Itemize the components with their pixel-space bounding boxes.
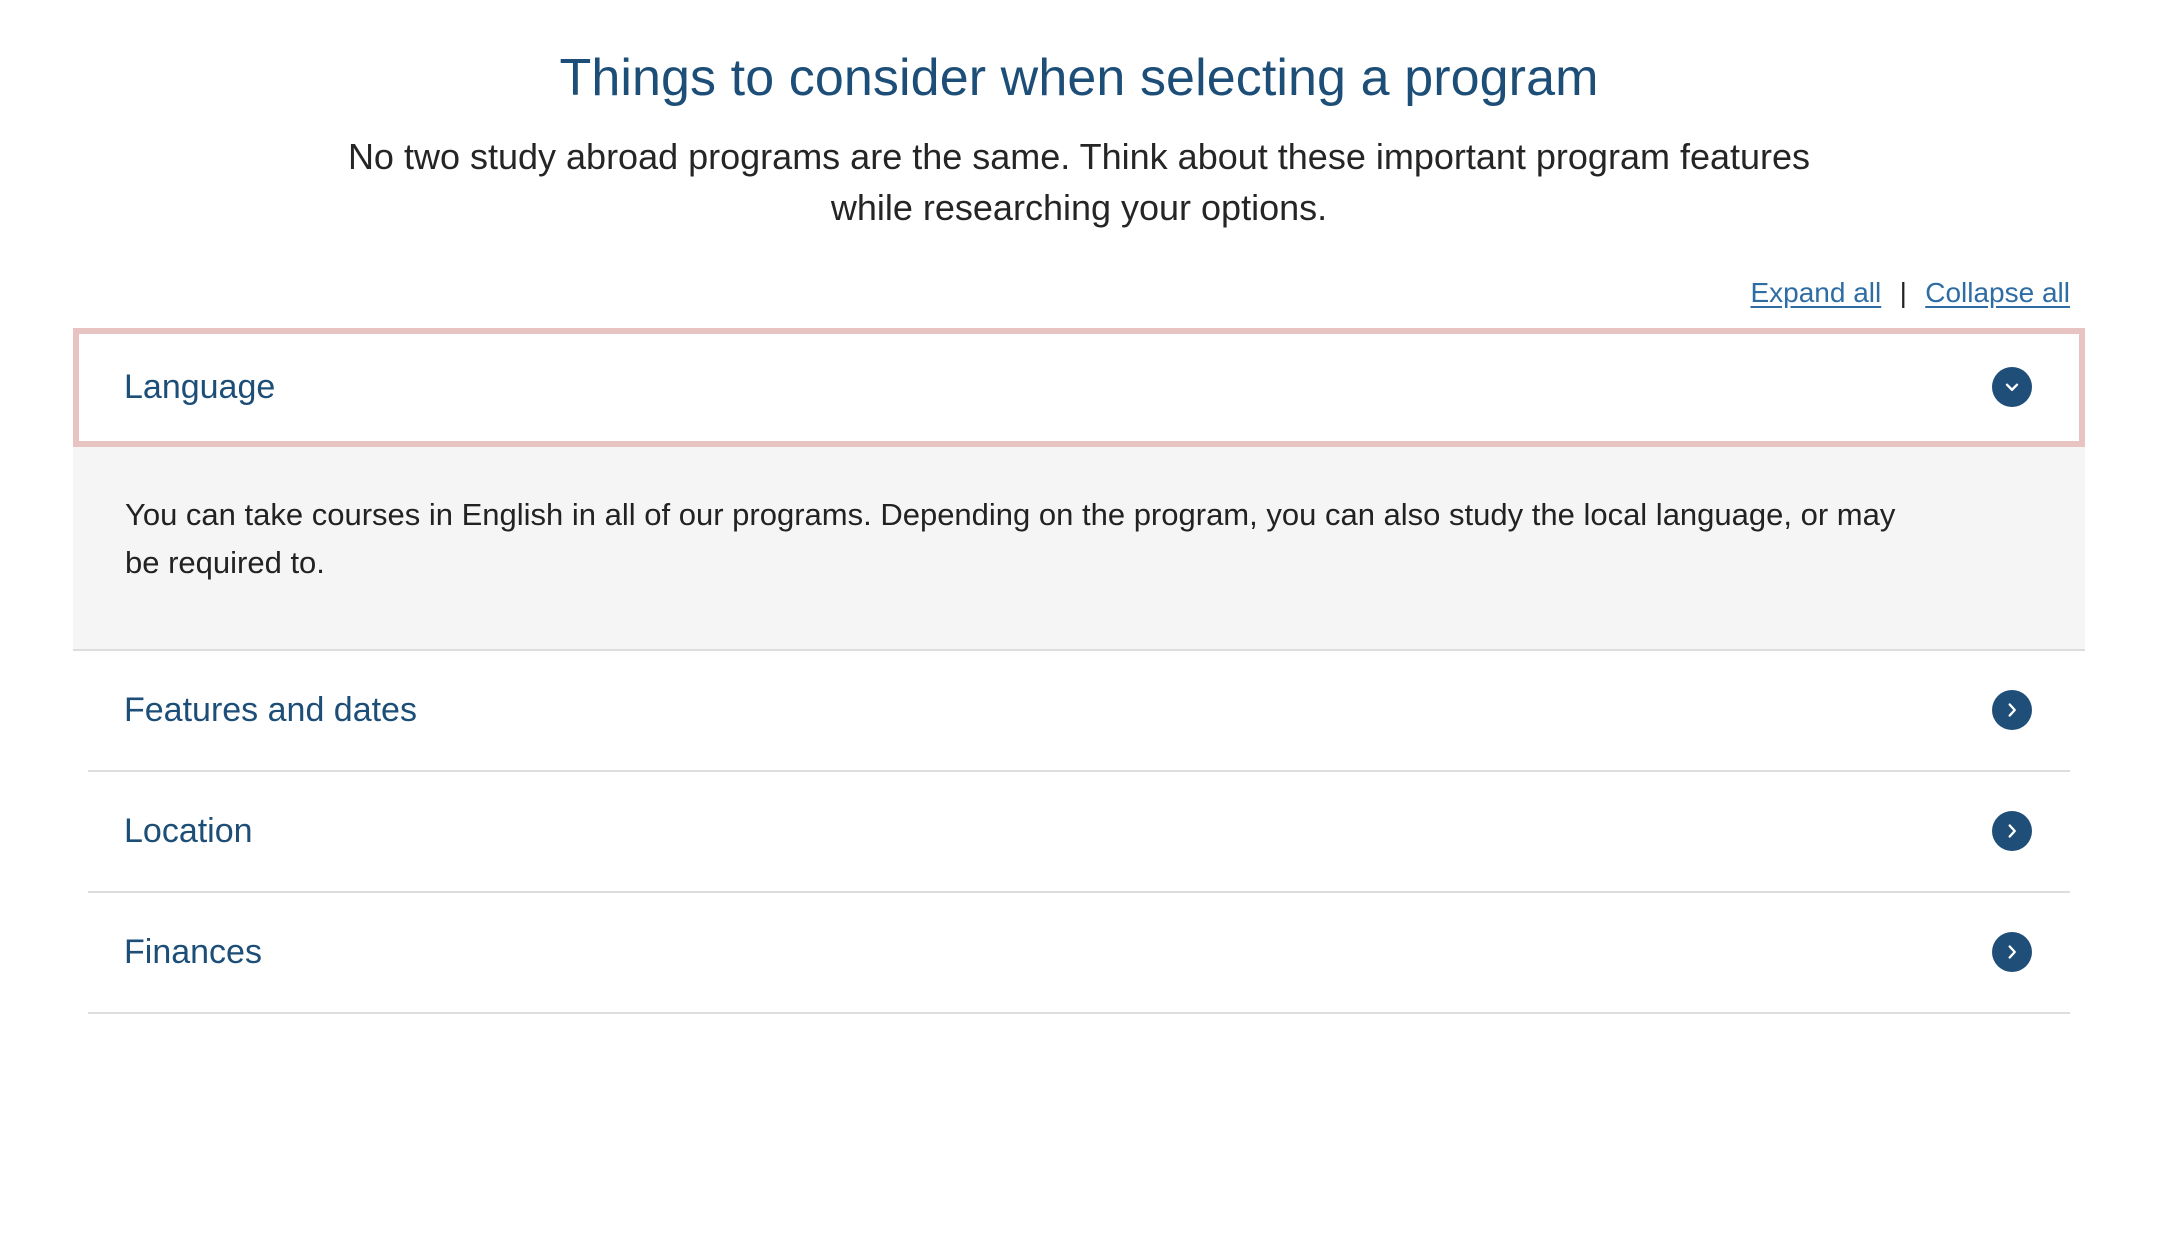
page-subtitle: No two study abroad programs are the sam… (329, 131, 1829, 233)
expand-all-link[interactable]: Expand all (1750, 276, 1881, 310)
program-selection-page: Things to consider when selecting a prog… (0, 0, 2158, 1246)
accordion-item-location: Location (73, 772, 2085, 893)
accordion-title-features-and-dates: Features and dates (124, 690, 417, 731)
chevron-right-icon[interactable] (1992, 932, 2032, 972)
accordion-divider (88, 1012, 2070, 1014)
accordion-item-features-and-dates: Features and dates (73, 651, 2085, 772)
accordion-header-location[interactable]: Location (73, 772, 2085, 891)
accordion-title-location: Location (124, 811, 253, 852)
accordion-panel-text-language: You can take courses in English in all o… (125, 491, 1925, 587)
accordion-item-language: Language You can take courses in English… (73, 328, 2085, 651)
chevron-right-icon[interactable] (1992, 811, 2032, 851)
accordion-controls: Expand all|Collapse all (0, 276, 2158, 310)
page-title: Things to consider when selecting a prog… (0, 48, 2158, 109)
accordion-header-finances[interactable]: Finances (73, 893, 2085, 1012)
accordion-header-features-and-dates[interactable]: Features and dates (73, 651, 2085, 770)
controls-separator: | (1881, 276, 1925, 310)
accordion: Language You can take courses in English… (0, 328, 2158, 1014)
accordion-header-language[interactable]: Language (73, 328, 2085, 447)
accordion-item-finances: Finances (73, 893, 2085, 1014)
chevron-down-icon[interactable] (1992, 367, 2032, 407)
accordion-title-finances: Finances (124, 932, 262, 973)
collapse-all-link[interactable]: Collapse all (1925, 276, 2070, 310)
accordion-panel-language: You can take courses in English in all o… (73, 447, 2085, 651)
chevron-right-icon[interactable] (1992, 690, 2032, 730)
page-header: Things to consider when selecting a prog… (0, 0, 2158, 234)
accordion-title-language: Language (124, 367, 275, 408)
